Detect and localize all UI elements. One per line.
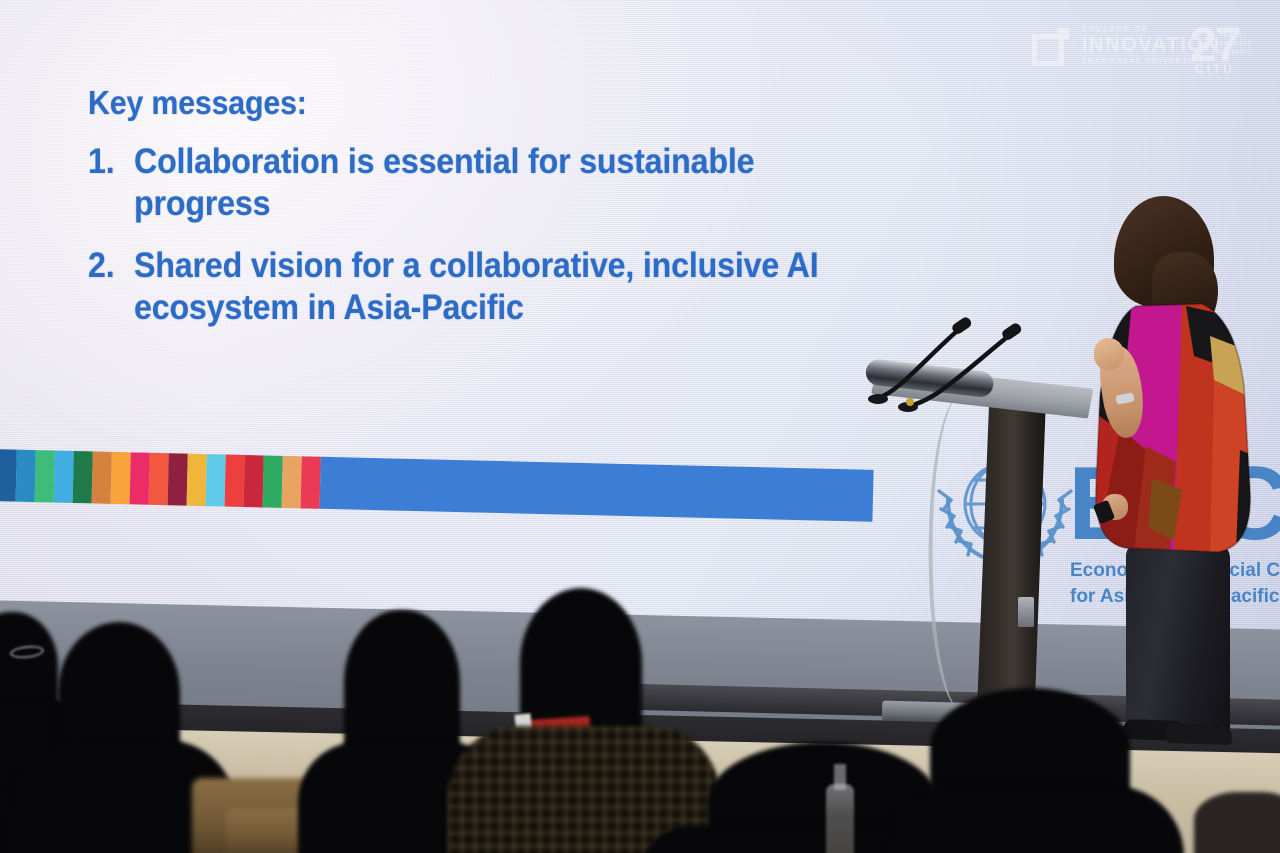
bullet-text-2: Shared vision for a collaborative, inclu… <box>134 245 818 329</box>
bullet-text-1: Collaboration is essential for sustainab… <box>134 141 818 225</box>
sdg-stripe-5 <box>73 451 93 503</box>
speaker-trousers <box>1126 542 1230 732</box>
podium-control-plate <box>1018 597 1034 627</box>
keynote-speaker <box>1080 196 1280 756</box>
slide-heading: Key messages: <box>88 86 815 119</box>
sdg-stripe-12 <box>206 454 226 506</box>
sdg-stripe-11 <box>187 454 207 506</box>
sdg-stripe-16 <box>282 456 302 508</box>
microphone-right <box>894 314 1064 424</box>
citu-square-icon <box>1032 28 1074 70</box>
speaker-shoe-right <box>1166 723 1233 745</box>
sdg-stripe-1 <box>0 449 17 501</box>
sdg-stripe-13 <box>225 455 245 507</box>
slide-bullet-list: 1. Collaboration is essential for sustai… <box>88 141 878 329</box>
anniversary-tiny-line1: YEARS <box>1210 32 1252 40</box>
sdg-stripe-4 <box>54 451 74 503</box>
sdg-stripe-7 <box>111 452 131 504</box>
bullet-number-1: 1. <box>88 141 130 183</box>
sdg-blue-bar <box>320 457 874 522</box>
sdg-stripe-10 <box>168 453 188 505</box>
bullet-number-2: 2. <box>88 245 130 287</box>
speaker-podium <box>866 352 1106 737</box>
sdg-stripe-2 <box>16 450 36 502</box>
podium-chrome-curve <box>922 391 1003 711</box>
citu-square-bar <box>1058 42 1064 66</box>
anniversary-tiny-line2: THAMMASAT UNIVERSITY <box>1210 40 1252 57</box>
citu-square-dot <box>1058 28 1069 39</box>
sdg-stripe-3 <box>35 450 55 502</box>
audience-shoulders-5 <box>884 786 1184 853</box>
sdg-stripe-14 <box>244 455 264 507</box>
sdg-stripe-8 <box>130 452 150 504</box>
slide-bullet-2: 2. Shared vision for a collaborative, in… <box>88 245 878 329</box>
anniversary-tiny-text: YEARS THAMMASAT UNIVERSITY <box>1210 32 1252 57</box>
water-bottle <box>826 784 854 853</box>
anniversary-sub: CITU <box>1195 62 1235 76</box>
audience-head-2 <box>344 610 460 762</box>
university-logo: COLLEGE OF INNOVATION THAMMASAT UNIVERSI… <box>1032 24 1252 76</box>
slide-bullet-1: 1. Collaboration is essential for sustai… <box>88 141 878 225</box>
sdg-stripe-9 <box>149 453 169 505</box>
sdg-color-strip <box>0 449 321 509</box>
sdg-stripe-6 <box>92 451 112 503</box>
sdg-stripe-17 <box>301 456 321 508</box>
audience-head-6 <box>1194 792 1280 853</box>
slide-content: Key messages: 1. Collaboration is essent… <box>88 86 878 349</box>
conference-photo-scene: Key messages: 1. Collaboration is essent… <box>0 0 1280 853</box>
sdg-stripe-15 <box>263 455 283 507</box>
speaker-hand-raised <box>1094 338 1124 370</box>
